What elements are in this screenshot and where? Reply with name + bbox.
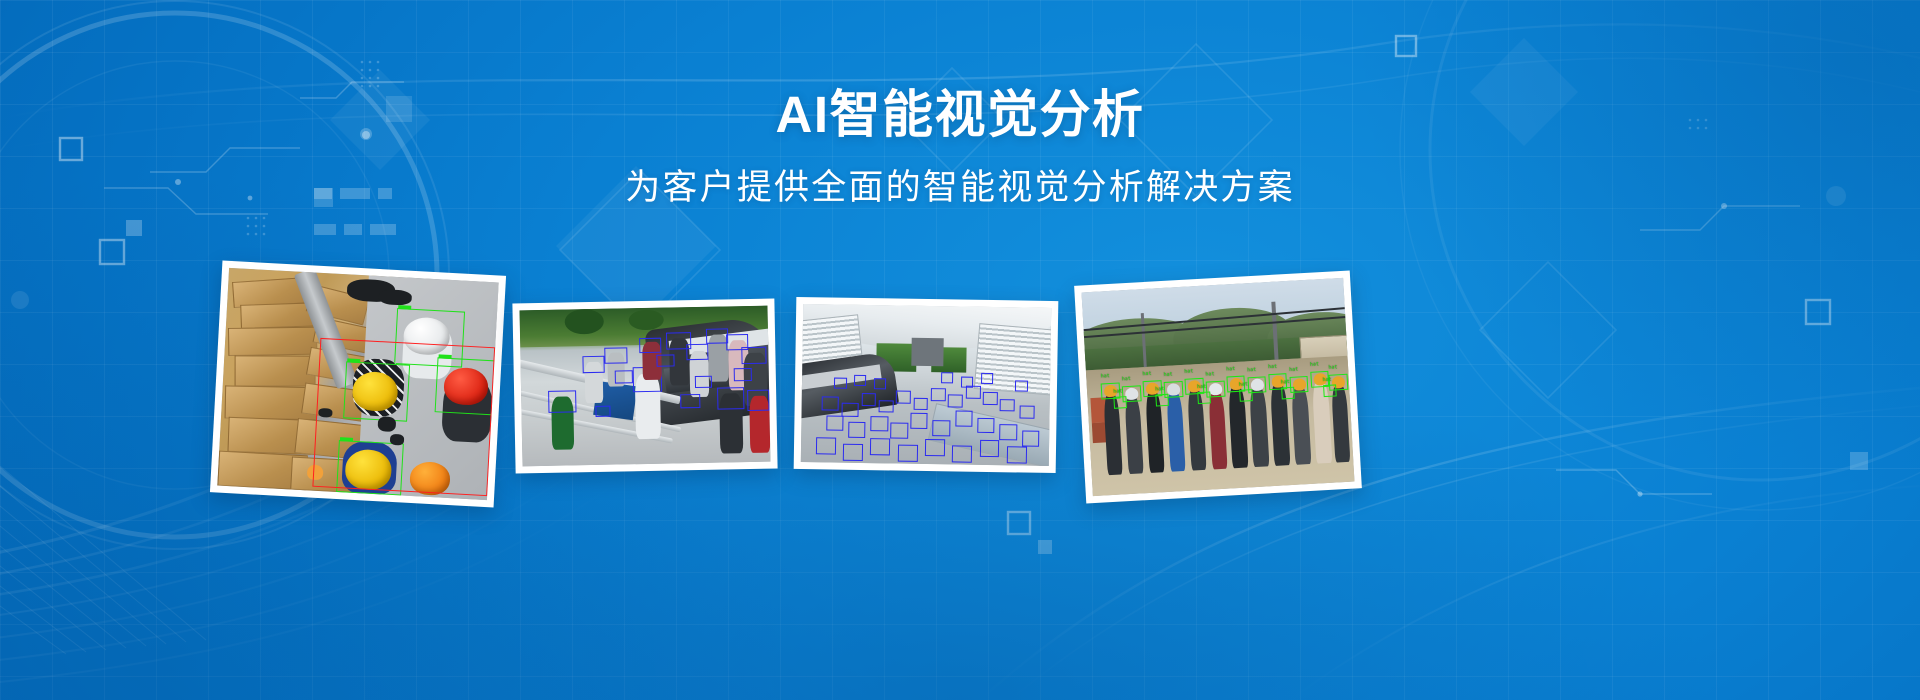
detection-label-hat: hat [1322,377,1331,383]
ai-vision-hero-banner: AI智能视觉分析 为客户提供全面的智能视觉分析解决方案 [0,0,1920,700]
gallery-card-head-count-station-platform[interactable] [794,297,1059,473]
detection-label-hat: hat [1163,371,1172,377]
detection-label-hat: hat [1184,368,1193,374]
detection-label-hat: hat [1113,388,1122,394]
photo-hat-detection-outdoor-group: hat hat hat hat hat [1082,278,1355,496]
detection-label-hat: hat [1142,370,1151,376]
photo-face-detection-footbridge [520,306,771,467]
detection-label-hat: hat [1100,373,1109,379]
detection-label-hat: hat [1289,366,1298,372]
detection-label-hat: hat [1226,366,1235,372]
detection-label-hat: hat [1328,364,1337,370]
detection-label-hat: hat [1310,361,1319,367]
page-title: AI智能视觉分析 [0,86,1920,143]
detection-label-hat: hat [1205,371,1214,377]
photo-hard-hat-detection-warehouse [217,268,498,500]
detection-label-hat: hat [1247,366,1256,372]
gallery-card-face-detection-footbridge[interactable] [512,299,777,474]
detection-label-hat: hat [1281,379,1290,385]
gallery-card-hat-detection-outdoor-group[interactable]: hat hat hat hat hat [1074,270,1362,503]
page-subtitle: 为客户提供全面的智能视觉分析解决方案 [0,167,1920,209]
gallery-card-hard-hat-detection-warehouse[interactable] [210,260,506,507]
hero-text-block: AI智能视觉分析 为客户提供全面的智能视觉分析解决方案 [0,86,1920,209]
photo-head-count-station-platform [801,304,1051,466]
detection-label-hat: hat [1197,384,1206,390]
detection-label-hat: hat [1268,363,1277,369]
detection-label-hat: hat [1155,386,1164,392]
showcase-gallery: hat hat hat hat hat [0,258,1920,518]
detection-label-hat: hat [1239,381,1248,387]
detection-label-hat: hat [1122,376,1131,382]
